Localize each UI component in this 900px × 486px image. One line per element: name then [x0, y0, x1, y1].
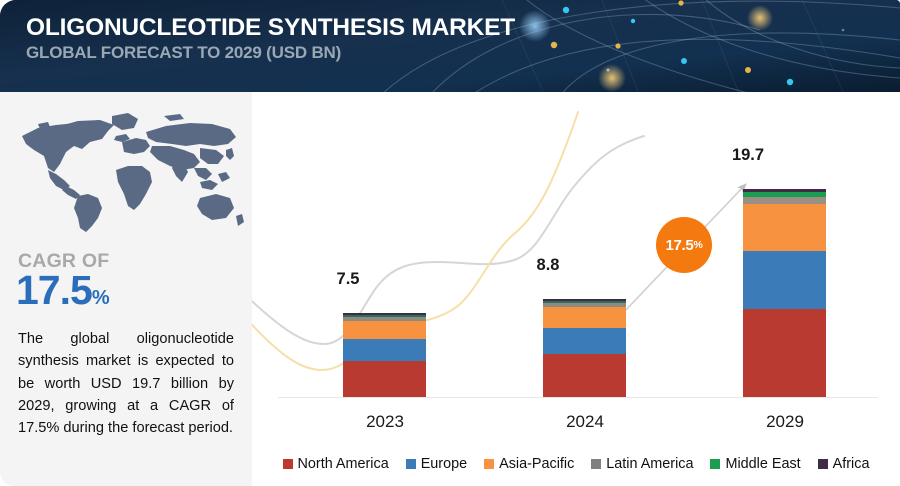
segment-north-america-2024: [543, 354, 626, 397]
cagr-bubble-percent: %: [693, 239, 702, 251]
legend-label-europe: Europe: [421, 456, 467, 472]
cagr-percent-sign: %: [92, 287, 110, 309]
legend-item-europe[interactable]: Europe: [406, 456, 467, 472]
left-info-panel: CAGR OF 17.5% The global oligonucleotide…: [0, 92, 252, 486]
segment-asia-pacific-2023: [343, 321, 426, 339]
segment-europe-2023: [343, 339, 426, 361]
x-tick-label-2029: 2029: [733, 412, 837, 432]
header-banner: OLIGONUCLEOTIDE SYNTHESIS MARKET GLOBAL …: [0, 0, 900, 92]
legend-item-middle-east[interactable]: Middle East: [710, 456, 800, 472]
legend-swatch-africa: [818, 459, 828, 469]
bar-total-label-2023: 7.5: [302, 270, 394, 289]
cagr-bubble-value: 17.5: [665, 237, 693, 254]
cagr-bubble-badge[interactable]: 17.5%: [656, 217, 712, 273]
legend-swatch-asia-pacific: [484, 459, 494, 469]
legend-item-asia-pacific[interactable]: Asia-Pacific: [484, 456, 574, 472]
segment-latin-america-2029: [743, 197, 826, 204]
infographic-root: OLIGONUCLEOTIDE SYNTHESIS MARKET GLOBAL …: [0, 0, 900, 486]
legend-item-north-america[interactable]: North America: [283, 456, 389, 472]
bar-stack-2023[interactable]: [343, 313, 426, 397]
header-text-block: OLIGONUCLEOTIDE SYNTHESIS MARKET GLOBAL …: [26, 14, 515, 63]
stacked-bar-chart: 7.5 2023 8.8 2024 19.7: [252, 92, 900, 486]
bar-stack-2029[interactable]: [743, 189, 826, 397]
page-title: OLIGONUCLEOTIDE SYNTHESIS MARKET: [26, 14, 515, 41]
page-subtitle: GLOBAL FORECAST TO 2029 (USD BN): [26, 43, 515, 63]
world-map-icon: [4, 106, 248, 238]
segment-asia-pacific-2029: [743, 204, 826, 251]
segment-north-america-2029: [743, 309, 826, 397]
legend-item-latin-america[interactable]: Latin America: [591, 456, 693, 472]
legend-swatch-europe: [406, 459, 416, 469]
legend-label-latin-america: Latin America: [606, 456, 693, 472]
x-tick-label-2023: 2023: [333, 412, 437, 432]
legend-label-north-america: North America: [298, 456, 389, 472]
market-description: The global oligonucleotide synthesis mar…: [18, 328, 234, 440]
segment-europe-2029: [743, 251, 826, 309]
legend-item-africa[interactable]: Africa: [818, 456, 870, 472]
legend-swatch-middle-east: [710, 459, 720, 469]
bar-total-label-2029: 19.7: [702, 146, 794, 165]
cagr-value: 17.5%: [16, 270, 110, 311]
segment-europe-2024: [543, 328, 626, 354]
x-axis-line: [278, 397, 878, 398]
x-tick-label-2024: 2024: [533, 412, 637, 432]
chart-legend: North America Europe Asia-Pacific Latin …: [252, 450, 900, 478]
segment-asia-pacific-2024: [543, 307, 626, 328]
legend-label-middle-east: Middle East: [725, 456, 800, 472]
legend-swatch-north-america: [283, 459, 293, 469]
legend-label-asia-pacific: Asia-Pacific: [499, 456, 574, 472]
legend-swatch-latin-america: [591, 459, 601, 469]
legend-label-africa: Africa: [833, 456, 870, 472]
bar-total-label-2024: 8.8: [502, 256, 594, 275]
segment-north-america-2023: [343, 361, 426, 397]
cagr-number: 17.5: [16, 267, 92, 313]
bar-stack-2024[interactable]: [543, 299, 626, 397]
